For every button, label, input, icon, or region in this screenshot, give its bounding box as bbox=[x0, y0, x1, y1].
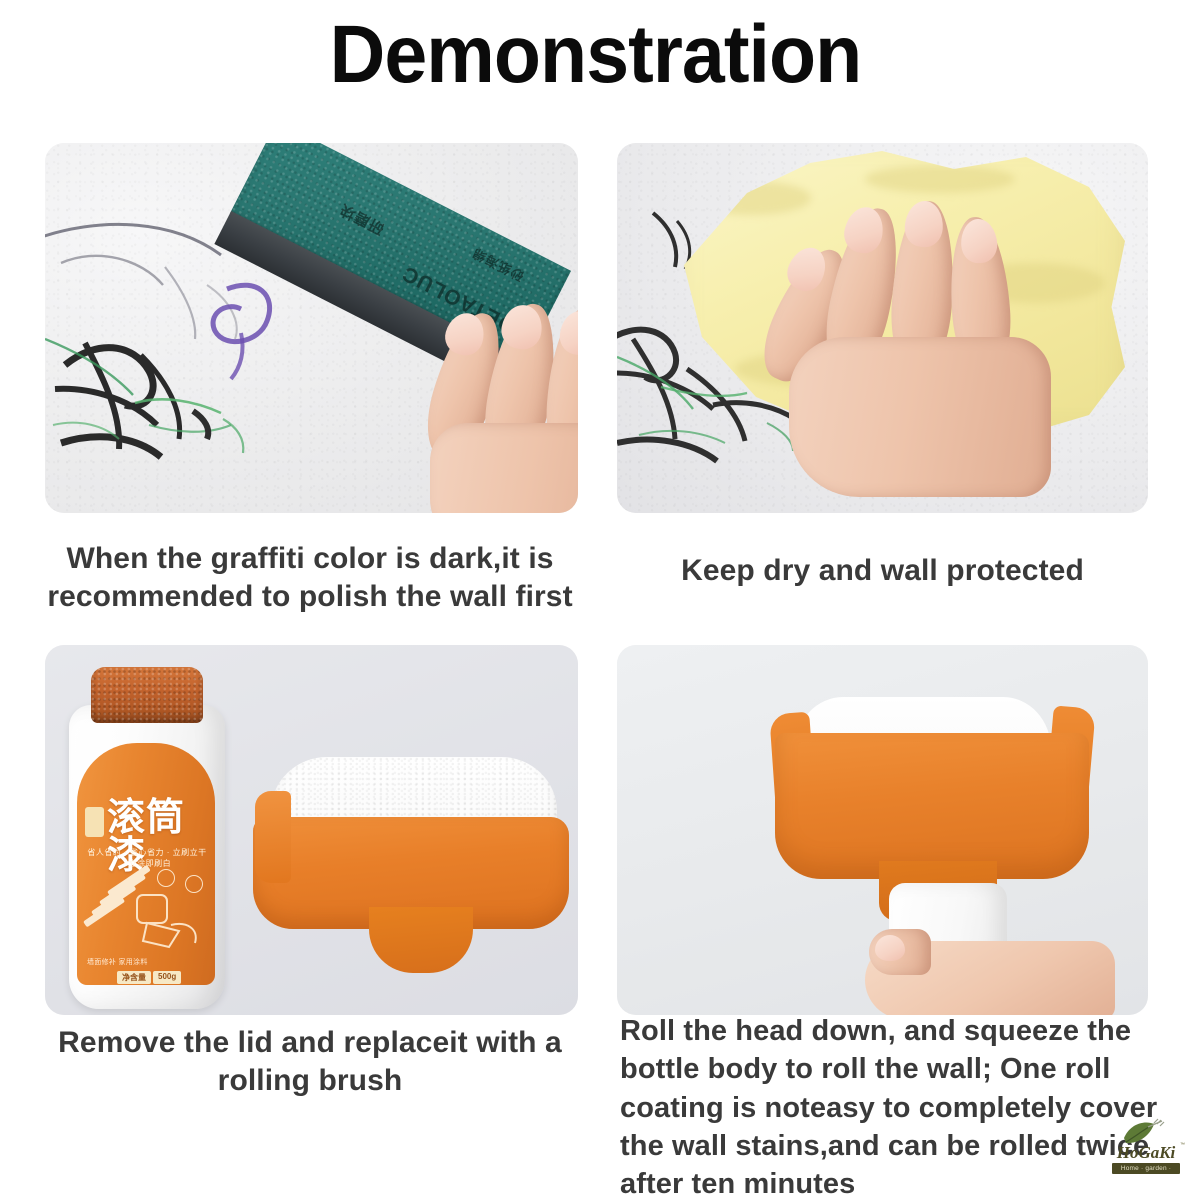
demo-step-image-1: DETAOLUC 研磨块 砂纸海绵 bbox=[45, 143, 578, 513]
sponge-print-line-2: 研磨块 bbox=[335, 199, 387, 240]
label-badge bbox=[85, 807, 104, 837]
leaf-icon bbox=[1122, 1118, 1166, 1146]
demo-step-caption-2: Keep dry and wall protected bbox=[617, 552, 1148, 590]
art-icon-circle bbox=[185, 875, 203, 893]
palm bbox=[789, 337, 1051, 497]
demo-step-image-2 bbox=[617, 143, 1148, 513]
demo-step-image-4 bbox=[617, 645, 1148, 1015]
paint-bottle: 滚筒漆 省人省时 · 省心省力 · 立刷立干 · 立涂即刷白 墙面修补 家用涂料… bbox=[69, 667, 225, 1009]
little-fingernail bbox=[960, 218, 999, 264]
page-title: Demonstration bbox=[36, 14, 1156, 96]
demo-step-caption-3: Remove the lid and replaceit with a roll… bbox=[25, 1024, 595, 1101]
roller-frame bbox=[775, 733, 1089, 879]
roller-arm-left bbox=[255, 791, 291, 883]
label-footnote: 墙面修补 家用涂料 bbox=[87, 957, 207, 967]
label-illustration bbox=[83, 865, 209, 957]
trademark-symbol: ™ bbox=[1180, 1142, 1185, 1148]
bottle-label: 滚筒漆 省人省时 · 省心省力 · 立刷立干 · 立涂即刷白 墙面修补 家用涂料… bbox=[77, 743, 215, 985]
palm bbox=[430, 423, 578, 513]
bottle-cap bbox=[91, 667, 203, 723]
thumbnail bbox=[875, 935, 905, 961]
art-icon-circle bbox=[157, 869, 175, 887]
weight-unit-label: 净含量 bbox=[117, 971, 151, 984]
hand-squeezing-bottle bbox=[865, 923, 1125, 1015]
demo-step-caption-4: Roll the head down, and squeeze the bott… bbox=[620, 1012, 1180, 1203]
hand-wiping-wall bbox=[767, 191, 1097, 501]
weight-value: 500g bbox=[153, 971, 181, 984]
sponge-print-line-3: 砂纸海绵 bbox=[468, 244, 527, 286]
label-weight: 净含量 500g bbox=[117, 971, 181, 984]
demo-step-image-3: 滚筒漆 省人省时 · 省心省力 · 立刷立干 · 立涂即刷白 墙面修补 家用涂料… bbox=[45, 645, 578, 1015]
roller-brush-head bbox=[253, 757, 569, 987]
roller-neck bbox=[369, 907, 473, 973]
brand-name: HoGaKi bbox=[1108, 1144, 1184, 1161]
hand-holding-sponge bbox=[430, 295, 578, 513]
cloth-fold bbox=[865, 165, 1015, 193]
brand-tagline: Home · garden · kitchen bbox=[1112, 1163, 1180, 1174]
demo-step-caption-1: When the graffiti color is dark,it is re… bbox=[25, 540, 595, 617]
brand-watermark: HoGaKi ™ Home · garden · kitchen bbox=[1108, 1118, 1184, 1180]
